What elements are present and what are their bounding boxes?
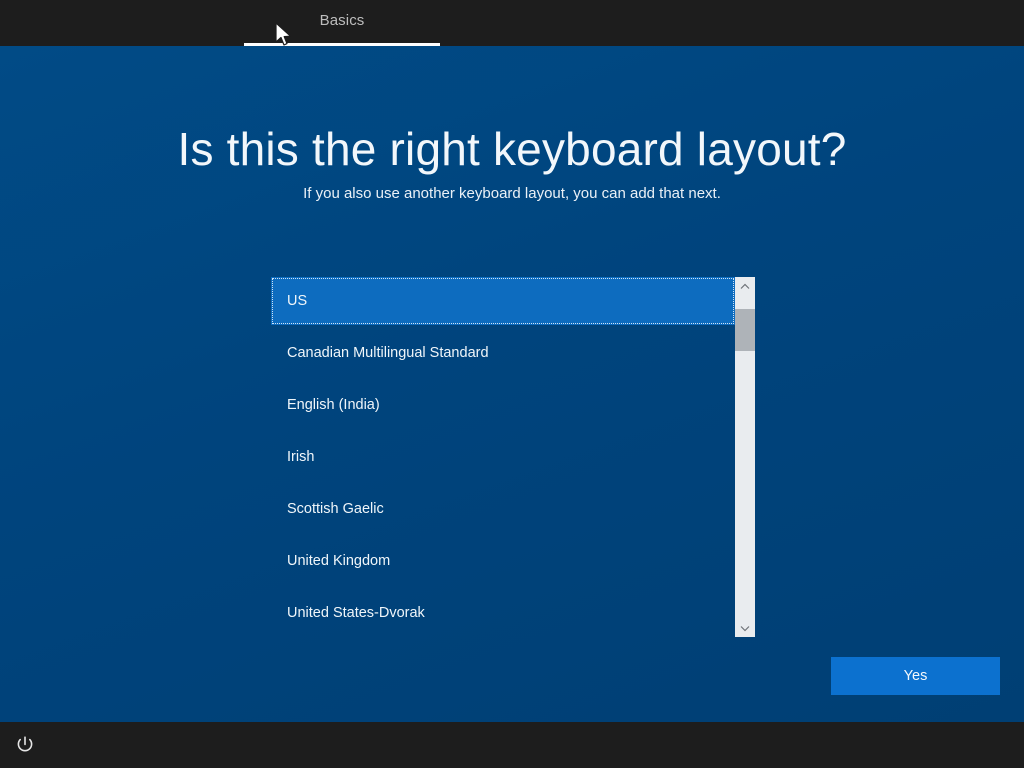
setup-screen: Basics Is this the right keyboard layout… — [0, 0, 1024, 768]
list-item-label: English (India) — [287, 397, 380, 413]
setup-stage: Is this the right keyboard layout? If yo… — [0, 46, 1024, 722]
power-icon[interactable] — [12, 733, 38, 757]
list-item-label: Irish — [287, 449, 314, 465]
keyboard-layout-listbox[interactable]: USCanadian Multilingual StandardEnglish … — [271, 277, 755, 637]
list-item-label: US — [287, 293, 307, 309]
bottom-bar — [0, 722, 1024, 768]
yes-button-label: Yes — [904, 668, 928, 684]
list-item[interactable]: United Kingdom — [271, 537, 735, 585]
list-item[interactable]: Canadian Multilingual Standard — [271, 329, 735, 377]
tab-basics[interactable]: Basics — [244, 0, 440, 46]
page-title: Is this the right keyboard layout? — [0, 122, 1024, 176]
yes-button[interactable]: Yes — [831, 657, 1000, 695]
list-item[interactable]: English (India) — [271, 381, 735, 429]
list-item-label: Canadian Multilingual Standard — [287, 345, 489, 361]
list-item[interactable]: Scottish Gaelic — [271, 485, 735, 533]
scrollbar-thumb[interactable] — [735, 309, 755, 351]
scrollbar-down-arrow-icon[interactable] — [735, 619, 755, 637]
list-item-label: United States-Dvorak — [287, 605, 425, 621]
keyboard-layout-list: USCanadian Multilingual StandardEnglish … — [271, 277, 735, 637]
scrollbar-up-arrow-icon[interactable] — [735, 277, 755, 295]
listbox-scrollbar[interactable] — [735, 277, 755, 637]
list-item-label: Scottish Gaelic — [287, 501, 384, 517]
page-subtitle: If you also use another keyboard layout,… — [0, 185, 1024, 202]
list-item[interactable]: Irish — [271, 433, 735, 481]
top-header-bar: Basics — [0, 0, 1024, 46]
tab-basics-label: Basics — [320, 12, 365, 32]
list-item-label: United Kingdom — [287, 553, 390, 569]
list-item[interactable]: United States-Dvorak — [271, 589, 735, 637]
list-item[interactable]: US — [271, 277, 735, 325]
